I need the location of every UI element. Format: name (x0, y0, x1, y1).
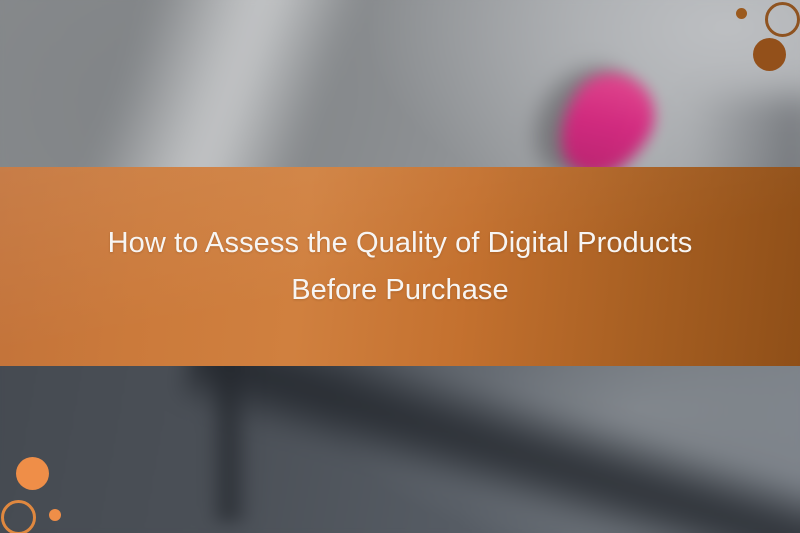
page-title-line-1: How to Assess the Quality of Digital Pro… (108, 227, 693, 259)
page-title-line-2: Before Purchase (291, 274, 509, 306)
page-title: How to Assess the Quality of Digital Pro… (108, 220, 693, 314)
background-dark-post (208, 341, 252, 522)
hero-banner-card: How to Assess the Quality of Digital Pro… (0, 0, 800, 533)
title-banner: How to Assess the Quality of Digital Pro… (0, 167, 800, 366)
